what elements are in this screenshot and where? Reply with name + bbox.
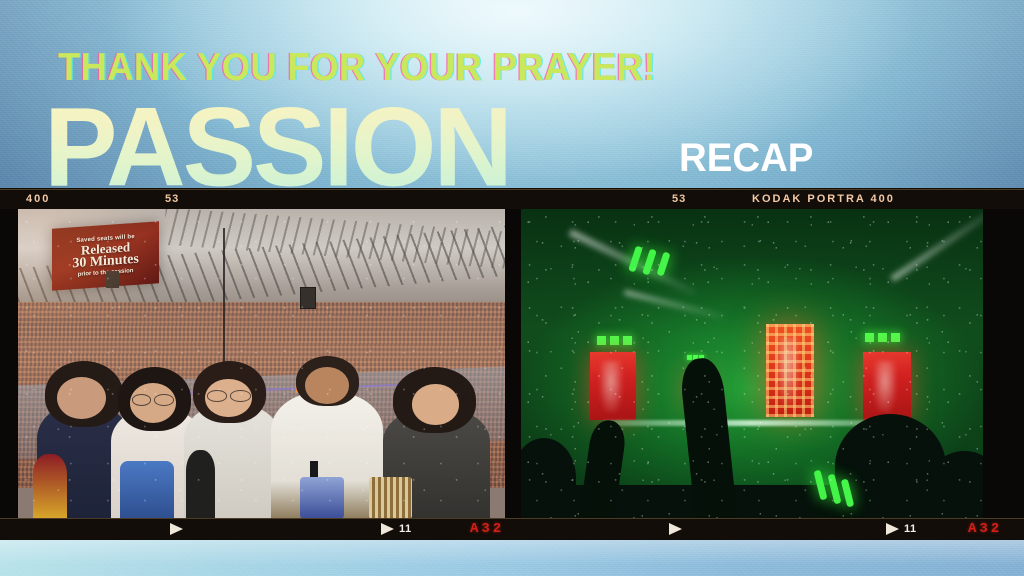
edge-code-bottom-right: A32 (968, 521, 1002, 537)
person-4-shirt-graphic (300, 477, 344, 519)
frame-advance-arrow-right (669, 523, 682, 535)
frame-number-bottom-left: 11 (399, 523, 412, 535)
poster-canvas: THANK YOU FOR YOUR PRAYER! RECAP 400 53 … (0, 0, 1024, 576)
person-3-glasses-right-lens (230, 390, 250, 402)
poster-subhead-recap: RECAP (679, 138, 813, 178)
person-1-scarf (33, 454, 67, 519)
edge-code-bottom-left: A32 (470, 521, 504, 537)
person-5-tote-bag (369, 477, 413, 519)
film-stock-label-right: KODAK PORTRA 400 (752, 193, 895, 205)
lighting-rig-speaker (300, 287, 316, 309)
filmstrip-container: 400 53 53 KODAK PORTRA 400 Saved seats w… (0, 188, 1024, 540)
poster-kicker-text: THANK YOU FOR YOUR PRAYER! (58, 48, 656, 87)
person-3-glasses-left-lens (207, 390, 227, 402)
photo-left-stadium-group: Saved seats will be Released 30 Minutes … (18, 209, 505, 519)
person-4-face (305, 367, 349, 404)
filmstrip-bottom-bar: 11 A32 11 A32 (0, 518, 1024, 540)
frame-advance-arrow-left (170, 523, 183, 535)
poster-headline-passion: PASSION (44, 97, 510, 200)
person-3-dark-vest (186, 450, 215, 519)
frame-number-bottom-right: 11 (904, 523, 917, 535)
photo-right-concert-crowd (521, 209, 983, 519)
concert-speckle-overlay (521, 209, 983, 519)
group-of-friends (18, 327, 505, 519)
stadium-scene: Saved seats will be Released 30 Minutes … (18, 209, 505, 519)
frame-number-top-right: 53 (672, 193, 686, 205)
concert-scene (521, 209, 983, 519)
person-2-glasses-right-lens (154, 394, 173, 406)
frame-advance-arrow-left-second (381, 523, 394, 535)
person-2-glasses-left-lens (132, 394, 151, 406)
person-1-face (57, 377, 106, 419)
filmstrip-bottom-rule (0, 518, 1024, 519)
person-2-graphic-tee (120, 461, 174, 519)
frame-advance-arrow-right-second (886, 523, 899, 535)
background-bottom-sheen (0, 540, 1024, 576)
light-leak-overlay (18, 209, 213, 318)
person-5-face (412, 384, 458, 424)
